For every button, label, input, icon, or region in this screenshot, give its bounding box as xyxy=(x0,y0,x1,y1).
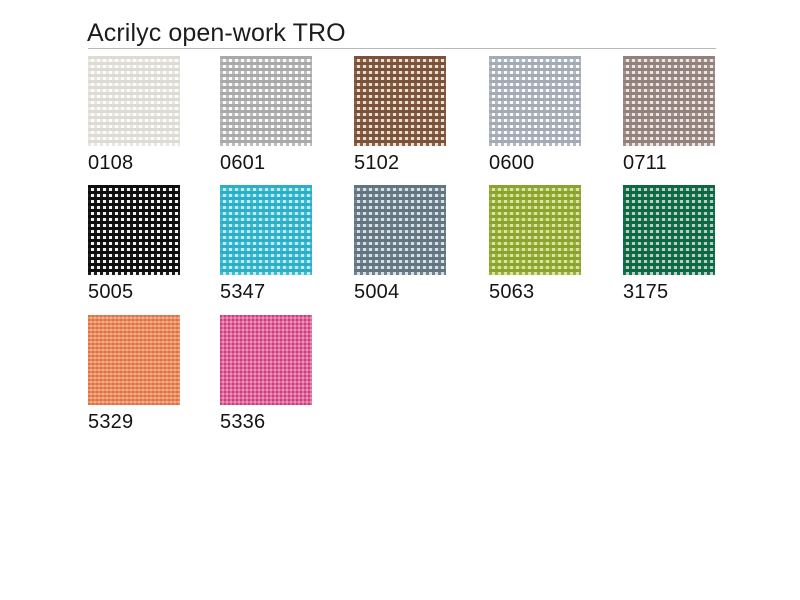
swatch-cell[interactable]: 5005 xyxy=(88,185,180,304)
swatch-code-label: 5329 xyxy=(88,410,180,434)
swatch-cell[interactable]: 5004 xyxy=(354,185,446,304)
fabric-swatch[interactable] xyxy=(489,56,581,146)
swatch-code-label: 5005 xyxy=(88,280,180,304)
swatch-code-label: 5102 xyxy=(354,151,446,175)
swatch-cell[interactable]: 0600 xyxy=(489,56,581,175)
swatch-cell[interactable]: 0108 xyxy=(88,56,180,175)
fabric-swatch[interactable] xyxy=(220,315,312,405)
swatch-code-label: 0711 xyxy=(623,151,715,175)
swatch-cell[interactable]: 0601 xyxy=(220,56,312,175)
fabric-swatch[interactable] xyxy=(220,56,312,146)
swatch-cell[interactable]: 5336 xyxy=(220,315,312,434)
swatch-catalog-page: Acrilyc open-work TRO 010806015102060007… xyxy=(0,0,800,600)
swatch-code-label: 3175 xyxy=(623,280,715,304)
swatch-cell[interactable]: 5063 xyxy=(489,185,581,304)
fabric-swatch[interactable] xyxy=(354,185,446,275)
swatch-cell[interactable]: 0711 xyxy=(623,56,715,175)
swatch-code-label: 5336 xyxy=(220,410,312,434)
swatch-code-label: 5004 xyxy=(354,280,446,304)
fabric-swatch[interactable] xyxy=(354,56,446,146)
swatch-code-label: 5347 xyxy=(220,280,312,304)
swatch-cell[interactable]: 5347 xyxy=(220,185,312,304)
fabric-swatch[interactable] xyxy=(88,315,180,405)
fabric-swatch[interactable] xyxy=(623,56,715,146)
swatch-cell[interactable]: 5102 xyxy=(354,56,446,175)
swatch-code-label: 0600 xyxy=(489,151,581,175)
swatch-code-label: 0108 xyxy=(88,151,180,175)
fabric-swatch[interactable] xyxy=(220,185,312,275)
fabric-swatch[interactable] xyxy=(88,56,180,146)
fabric-swatch[interactable] xyxy=(489,185,581,275)
swatch-cell[interactable]: 3175 xyxy=(623,185,715,304)
swatch-grid: 0108060151020600071150055347500450633175… xyxy=(0,0,800,600)
swatch-code-label: 5063 xyxy=(489,280,581,304)
fabric-swatch[interactable] xyxy=(88,185,180,275)
swatch-cell[interactable]: 5329 xyxy=(88,315,180,434)
fabric-swatch[interactable] xyxy=(623,185,715,275)
swatch-code-label: 0601 xyxy=(220,151,312,175)
